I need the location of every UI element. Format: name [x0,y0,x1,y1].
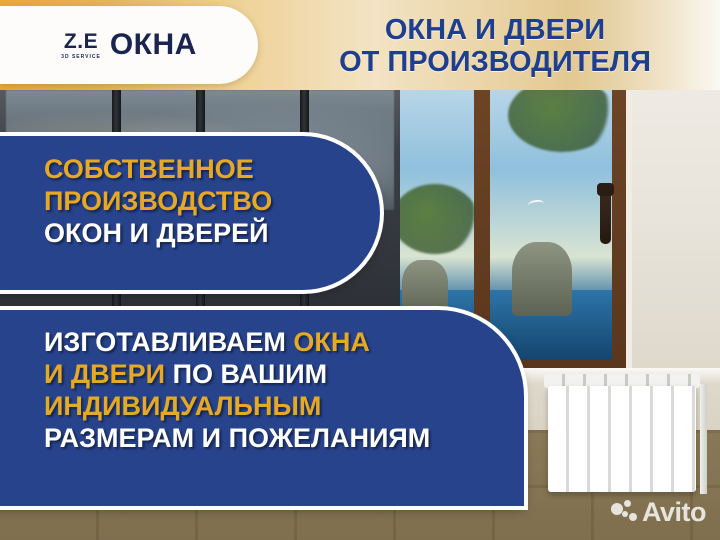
window-handle [600,190,611,244]
banner-text-segment: ОКНА [293,327,369,357]
banner-text-segment: И ДВЕРИ [44,359,173,389]
banner-text-segment: СОБСТВЕННОЕ [44,154,254,184]
logo-mark: Z.E 3D SERVICE [61,31,101,60]
seagull-decor [527,199,544,210]
cliff-decor [402,260,448,316]
banner-line: ПРОИЗВОДСТВО [44,186,272,218]
banner-text-segment: ИНДИВИДУАЛЬНЫМ [44,391,321,421]
banner-1-text: СОБСТВЕННОЕПРОИЗВОДСТВООКОН И ДВЕРЕЙ [44,154,272,250]
banner-custom-sizes: ИЗГОТАВЛИВАЕМ ОКНАИ ДВЕРИ ПО ВАШИМИНДИВИ… [0,310,524,506]
banner-text-segment: ПРОИЗВОДСТВО [44,186,272,216]
avito-watermark: Avito [611,497,706,528]
banner-text-segment: РАЗМЕРАМ И ПОЖЕЛАНИЯМ [44,423,430,453]
banner-line: ОКОН И ДВЕРЕЙ [44,218,272,250]
logo-mark-text: Z.E [64,31,98,52]
headline-line-2: ОТ ПРОИЗВОДИТЕЛЯ [295,46,695,78]
avito-wordmark: Avito [642,497,706,528]
cliff-decor [512,242,572,316]
radiator-body [548,386,696,492]
foliage-decor [392,184,478,254]
banner-text-segment: ОКОН И ДВЕРЕЙ [44,218,269,248]
banner-line: СОБСТВЕННОЕ [44,154,272,186]
advertisement-image: Z.E 3D SERVICE ОКНА ОКНА И ДВЕРИ ОТ ПРОИ… [0,0,720,540]
banner-text-segment: ИЗГОТАВЛИВАЕМ [44,327,293,357]
logo: Z.E 3D SERVICE ОКНА [0,6,258,84]
page-title: ОКНА И ДВЕРИ ОТ ПРОИЗВОДИТЕЛЯ [295,14,695,79]
banner-own-production: СОБСТВЕННОЕПРОИЗВОДСТВООКОН И ДВЕРЕЙ [0,136,380,290]
banner-line: ИНДИВИДУАЛЬНЫМ [44,391,430,423]
headline-line-1: ОКНА И ДВЕРИ [295,14,695,46]
banner-2-text: ИЗГОТАВЛИВАЕМ ОКНАИ ДВЕРИ ПО ВАШИМИНДИВИ… [44,327,430,454]
logo-name: ОКНА [110,28,197,62]
banner-text-segment: ПО ВАШИМ [173,359,328,389]
logo-mark-subtext: 3D SERVICE [61,55,101,60]
radiator-pipe [700,384,707,494]
banner-line: РАЗМЕРАМ И ПОЖЕЛАНИЯМ [44,423,430,455]
banner-line: И ДВЕРИ ПО ВАШИМ [44,359,430,391]
window-pane-right [490,88,612,360]
banner-line: ИЗГОТАВЛИВАЕМ ОКНА [44,327,430,359]
avito-logo-icon [611,500,637,526]
radiator [548,386,696,492]
